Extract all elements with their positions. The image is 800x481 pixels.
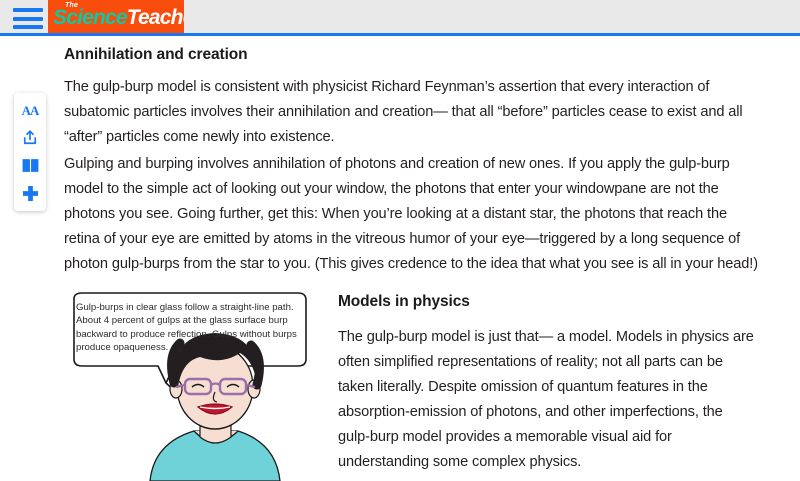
reader-tool-rail: AA <box>14 93 46 211</box>
hamburger-menu-icon[interactable] <box>13 8 43 29</box>
paragraph-models: The gulp-burp model is just that— a mode… <box>338 325 758 475</box>
article-body: Annihilation and creation The gulp-burp … <box>0 39 800 481</box>
text-size-icon[interactable]: AA <box>18 99 42 123</box>
text-size-label: AA <box>22 103 39 119</box>
logo-science: Science <box>53 6 127 29</box>
paragraph-gulping-burping: Gulping and burping involves annihilatio… <box>64 152 762 277</box>
hamburger-bar <box>13 17 43 21</box>
paragraph-feynman: The gulp-burp model is consistent with p… <box>64 75 762 150</box>
logo-wordmark: ScienceTeacher <box>53 6 184 30</box>
top-bar: The ScienceTeacher <box>0 0 800 36</box>
science-teacher-logo[interactable]: The ScienceTeacher <box>48 0 184 33</box>
add-icon[interactable] <box>18 181 42 205</box>
book-icon[interactable] <box>18 154 42 178</box>
share-icon[interactable] <box>18 126 42 150</box>
hamburger-bar <box>13 25 43 29</box>
speech-bubble-text: Gulp-burps in clear glass follow a strai… <box>76 301 302 355</box>
cartoon-illustration: Gulp-burps in clear glass follow a strai… <box>62 291 324 481</box>
logo-teacher: Teacher <box>127 6 184 29</box>
section-heading-annihilation: Annihilation and creation <box>64 46 248 64</box>
hamburger-bar <box>13 8 43 12</box>
section-heading-models-in-physics: Models in physics <box>338 293 470 311</box>
